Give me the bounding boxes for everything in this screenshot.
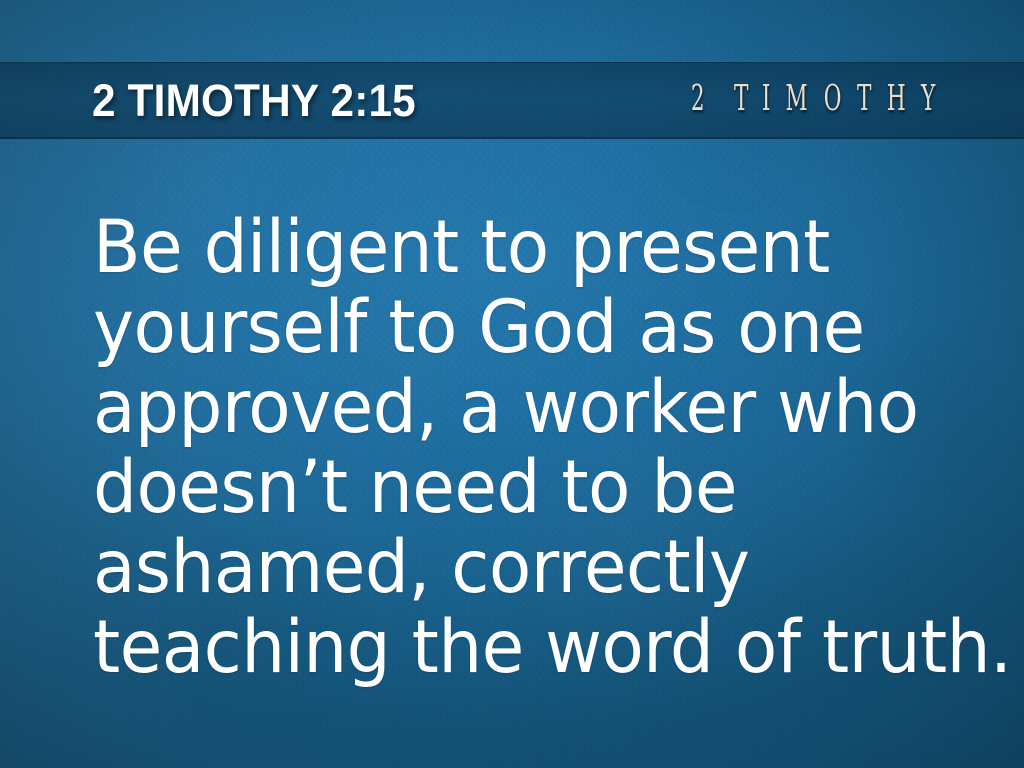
book-brand-label: 2 TIMOTHY [687, 84, 946, 114]
verse-line: yourself to God as one [93, 288, 929, 368]
verse-text: Be diligent to present yourself to God a… [93, 208, 929, 688]
scripture-slide: 2 TIMOTHY 2:15 2 TIMOTHY Be diligent to … [0, 0, 1024, 768]
verse-line: doesn’t need to be [93, 448, 929, 528]
verse-line: teaching the word of truth. [93, 608, 929, 688]
verse-line: ashamed, correctly [93, 528, 929, 608]
verse-line: Be diligent to present [93, 208, 929, 288]
verse-reference: 2 TIMOTHY 2:15 [92, 78, 416, 123]
verse-line: approved, a worker who [93, 368, 929, 448]
header-band: 2 TIMOTHY 2:15 2 TIMOTHY [0, 62, 1024, 139]
